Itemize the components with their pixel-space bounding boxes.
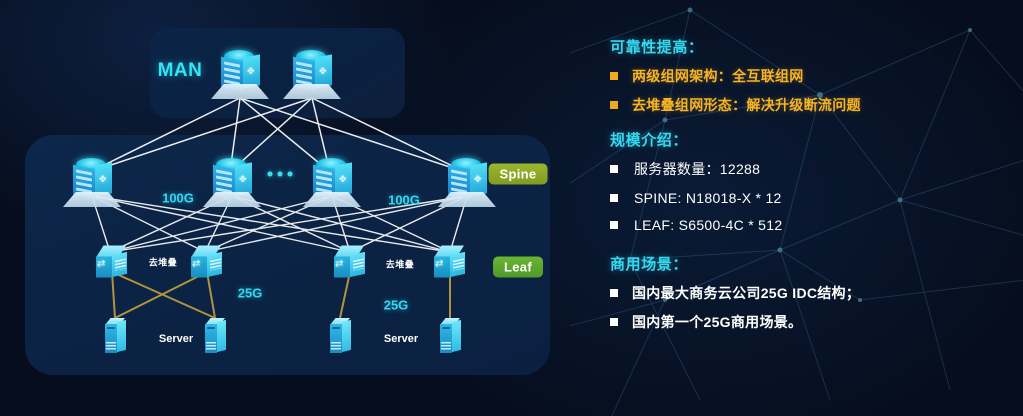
bullet-square-icon bbox=[610, 101, 618, 109]
bullet-item: SPINE: N18018-X * 12 bbox=[610, 190, 1023, 206]
server-tower-icon bbox=[327, 318, 353, 356]
leaf-node-1: ⇄ bbox=[92, 246, 132, 279]
server-tower-icon bbox=[202, 318, 228, 356]
spine-node-2: ✥ bbox=[209, 158, 255, 206]
bullet-text: 国内第一个25G商用场景。 bbox=[632, 312, 802, 332]
section-scale: 规模介绍： 服务器数量：12288 SPINE: N18018-X * 12 L… bbox=[610, 129, 1023, 233]
section-title-reliability: 可靠性提高： bbox=[610, 36, 1023, 57]
man-node-2: ✥ bbox=[289, 50, 335, 98]
bullet-square-icon bbox=[610, 318, 618, 326]
bullet-square-icon bbox=[610, 289, 618, 297]
spine-node-1: ✥ bbox=[69, 158, 115, 206]
server-label-left: Server bbox=[159, 333, 193, 345]
bullet-item: 去堆叠组网形态：解决升级断流问题 bbox=[610, 95, 1023, 115]
link-speed-25g-right: 25G bbox=[384, 298, 409, 313]
man-label: MAN bbox=[158, 60, 203, 82]
bullet-square-icon bbox=[610, 165, 618, 173]
spine-badge: Spine bbox=[489, 164, 548, 185]
bullet-text: 国内最大商务云公司25G IDC结构； bbox=[632, 283, 860, 303]
leaf-node-2: ⇄ bbox=[187, 246, 227, 279]
switch-chassis-icon: ✥ bbox=[309, 158, 355, 206]
leaf-node-4: ⇄ bbox=[430, 246, 470, 279]
bullet-square-icon bbox=[610, 221, 618, 229]
leaf-node-3: ⇄ bbox=[330, 246, 370, 279]
server-label-right: Server bbox=[384, 333, 418, 345]
server-tower-icon bbox=[102, 318, 128, 356]
section-title-scale: 规模介绍： bbox=[610, 129, 1023, 150]
switch-chassis-icon: ✥ bbox=[444, 158, 490, 206]
link-speed-100g-right: 100G bbox=[388, 193, 420, 208]
server-node-3 bbox=[327, 318, 353, 356]
bullet-square-icon bbox=[610, 194, 618, 202]
bullet-text: 服务器数量：12288 bbox=[634, 159, 760, 179]
server-node-1 bbox=[102, 318, 128, 356]
bullet-square-icon bbox=[610, 72, 618, 80]
router-chassis-icon: ✥ bbox=[217, 50, 263, 98]
info-content: 可靠性提高： 两级组网架构：全互联组网 去堆叠组网形态：解决升级断流问题 规模介… bbox=[570, 0, 1023, 416]
leaf-switch-icon: ⇄ bbox=[430, 246, 470, 279]
section-reliability: 可靠性提高： 两级组网架构：全互联组网 去堆叠组网形态：解决升级断流问题 bbox=[610, 36, 1023, 115]
router-chassis-icon: ✥ bbox=[289, 50, 335, 98]
link-speed-25g-left: 25G bbox=[238, 286, 263, 301]
switch-chassis-icon: ✥ bbox=[69, 158, 115, 206]
destack-label-left: 去堆叠 bbox=[149, 256, 178, 269]
spine-node-4: ✥ bbox=[444, 158, 490, 206]
section-commercial: 商用场景： 国内最大商务云公司25G IDC结构； 国内第一个25G商用场景。 bbox=[610, 253, 1023, 332]
section-title-commercial: 商用场景： bbox=[610, 253, 1023, 274]
leaf-switch-icon: ⇄ bbox=[330, 246, 370, 279]
leaf-badge: Leaf bbox=[493, 257, 543, 278]
destack-label-right: 去堆叠 bbox=[386, 258, 415, 271]
bullet-item: 国内第一个25G商用场景。 bbox=[610, 312, 1023, 332]
spine-ellipsis bbox=[268, 172, 293, 177]
spine-node-3: ✥ bbox=[309, 158, 355, 206]
topology-links bbox=[0, 0, 570, 416]
server-node-2 bbox=[202, 318, 228, 356]
bullet-text: SPINE: N18018-X * 12 bbox=[634, 190, 782, 206]
bullet-item: LEAF: S6500-4C * 512 bbox=[610, 217, 1023, 233]
bullet-text: LEAF: S6500-4C * 512 bbox=[634, 217, 782, 233]
leaf-switch-icon: ⇄ bbox=[187, 246, 227, 279]
link-speed-100g-left: 100G bbox=[162, 191, 194, 206]
bullet-text: 两级组网架构：全互联组网 bbox=[632, 66, 804, 86]
bullet-item: 国内最大商务云公司25G IDC结构； bbox=[610, 283, 1023, 303]
server-node-4 bbox=[437, 318, 463, 356]
bullet-item: 两级组网架构：全互联组网 bbox=[610, 66, 1023, 86]
bullet-item: 服务器数量：12288 bbox=[610, 159, 1023, 179]
man-node-1: ✥ bbox=[217, 50, 263, 98]
info-panel: 可靠性提高： 两级组网架构：全互联组网 去堆叠组网形态：解决升级断流问题 规模介… bbox=[570, 0, 1023, 416]
leaf-switch-icon: ⇄ bbox=[92, 246, 132, 279]
switch-chassis-icon: ✥ bbox=[209, 158, 255, 206]
server-tower-icon bbox=[437, 318, 463, 356]
bullet-text: 去堆叠组网形态：解决升级断流问题 bbox=[632, 95, 861, 115]
network-topology-diagram: ✥ ✥ MAN ✥ ✥ ✥ bbox=[0, 0, 570, 416]
